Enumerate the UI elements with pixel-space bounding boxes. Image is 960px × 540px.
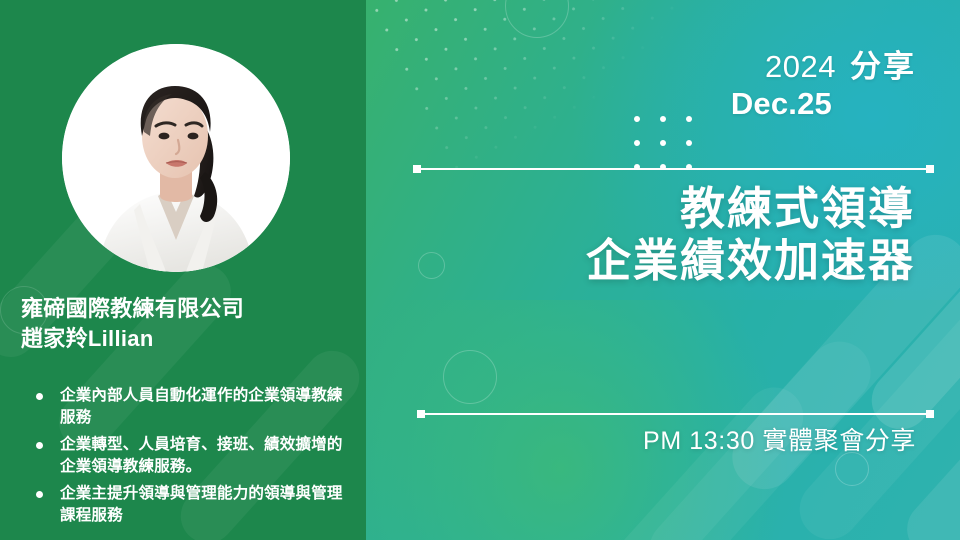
event-share-label: 分享 bbox=[850, 49, 916, 84]
speaker-person: 趙家羚Lillian bbox=[21, 324, 351, 354]
event-year: 2024 bbox=[765, 49, 836, 84]
list-item: 企業轉型、人員培育、接班、績效擴增的企業領導教練服務。 bbox=[18, 434, 354, 478]
decor-dot bbox=[634, 116, 640, 122]
speaker-panel: 雍碲國際教練有限公司 趙家羚Lillian 企業內部人員自動化運作的企業領導教練… bbox=[0, 0, 366, 540]
decor-dot bbox=[660, 140, 666, 146]
event-title-block: 教練式領導 企業績效加速器 bbox=[586, 183, 915, 287]
speaker-company: 雍碲國際教練有限公司 bbox=[21, 294, 351, 324]
divider-rule-top bbox=[417, 168, 930, 170]
list-item: 企業主提升領導與管理能力的領導與管理課程服務 bbox=[18, 483, 354, 527]
decor-ring-mid bbox=[835, 452, 869, 486]
decor-ring-large bbox=[443, 350, 497, 404]
event-date-block: 2024分享 Dec.25 bbox=[731, 48, 916, 122]
decor-ring-small bbox=[418, 252, 445, 279]
speaker-topics-list: 企業內部人員自動化運作的企業領導教練服務 企業轉型、人員培育、接班、績效擴增的企… bbox=[18, 385, 354, 532]
event-title-line-1: 教練式領導 bbox=[586, 183, 915, 235]
decor-dot-grid bbox=[634, 116, 712, 188]
decor-dot bbox=[660, 116, 666, 122]
event-time-venue: PM 13:30 實體聚會分享 bbox=[643, 425, 916, 457]
decor-dot bbox=[686, 140, 692, 146]
event-year-row: 2024分享 bbox=[731, 48, 916, 86]
list-item: 企業內部人員自動化運作的企業領導教練服務 bbox=[18, 385, 354, 429]
divider-rule-bottom bbox=[421, 413, 930, 415]
event-poster-slide: 2024分享 Dec.25 教練式領導 企業績效加速器 PM 13:30 實體聚… bbox=[0, 0, 960, 540]
decor-dot bbox=[686, 116, 692, 122]
speaker-portrait-illustration bbox=[62, 44, 290, 272]
event-date: Dec.25 bbox=[731, 86, 832, 122]
event-title-line-2: 企業績效加速器 bbox=[586, 235, 915, 287]
avatar bbox=[62, 44, 290, 272]
decor-dot bbox=[634, 140, 640, 146]
speaker-name-block: 雍碲國際教練有限公司 趙家羚Lillian bbox=[21, 294, 351, 354]
